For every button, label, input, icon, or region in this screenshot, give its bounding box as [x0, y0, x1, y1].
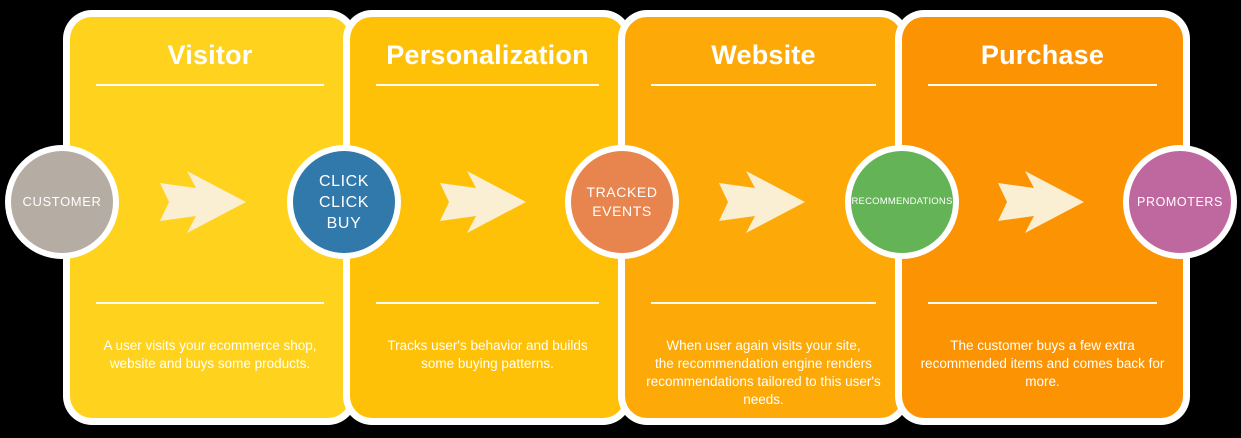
node-label: PROMOTERS	[1129, 194, 1231, 210]
flow-arrow-icon	[440, 171, 526, 233]
stage-card-description: Tracks user's behavior and builds some b…	[362, 337, 613, 373]
flow-arrow-icon	[719, 171, 805, 233]
flow-arrow-icon	[998, 171, 1084, 233]
node-label: CUSTOMER	[11, 194, 113, 210]
stage-card-title: Website	[625, 39, 902, 71]
node-customer[interactable]: CUSTOMER	[11, 151, 113, 253]
node-promoters[interactable]: PROMOTERS	[1129, 151, 1231, 253]
stage-card-description: A user visits your ecommerce shop, websi…	[82, 337, 338, 373]
stage-card-title: Purchase	[902, 39, 1183, 71]
divider-top	[651, 84, 876, 86]
stage-card-title: Personalization	[350, 39, 625, 71]
divider-top	[928, 84, 1157, 86]
node-recommendations[interactable]: RECOMMENDATIONS	[851, 151, 953, 253]
stage-card-description: The customer buys a few extra recommende…	[914, 337, 1171, 391]
divider-bottom	[651, 302, 876, 304]
divider-bottom	[96, 302, 324, 304]
stage-card-title: Visitor	[70, 39, 350, 71]
flow-arrow-icon	[160, 171, 246, 233]
divider-top	[96, 84, 324, 86]
node-tracked-events[interactable]: TRACKED EVENTS	[571, 151, 673, 253]
node-label: RECOMMENDATIONS	[851, 196, 953, 208]
node-label: TRACKED EVENTS	[571, 183, 673, 221]
stage-card-description: When user again visits your site, the re…	[637, 337, 890, 409]
divider-bottom	[928, 302, 1157, 304]
divider-top	[376, 84, 599, 86]
divider-bottom	[376, 302, 599, 304]
node-click-click-buy[interactable]: CLICK CLICK BUY	[293, 151, 395, 253]
flow-diagram: Visitor A user visits your ecommerce sho…	[0, 0, 1241, 438]
node-label: CLICK CLICK BUY	[293, 171, 395, 234]
